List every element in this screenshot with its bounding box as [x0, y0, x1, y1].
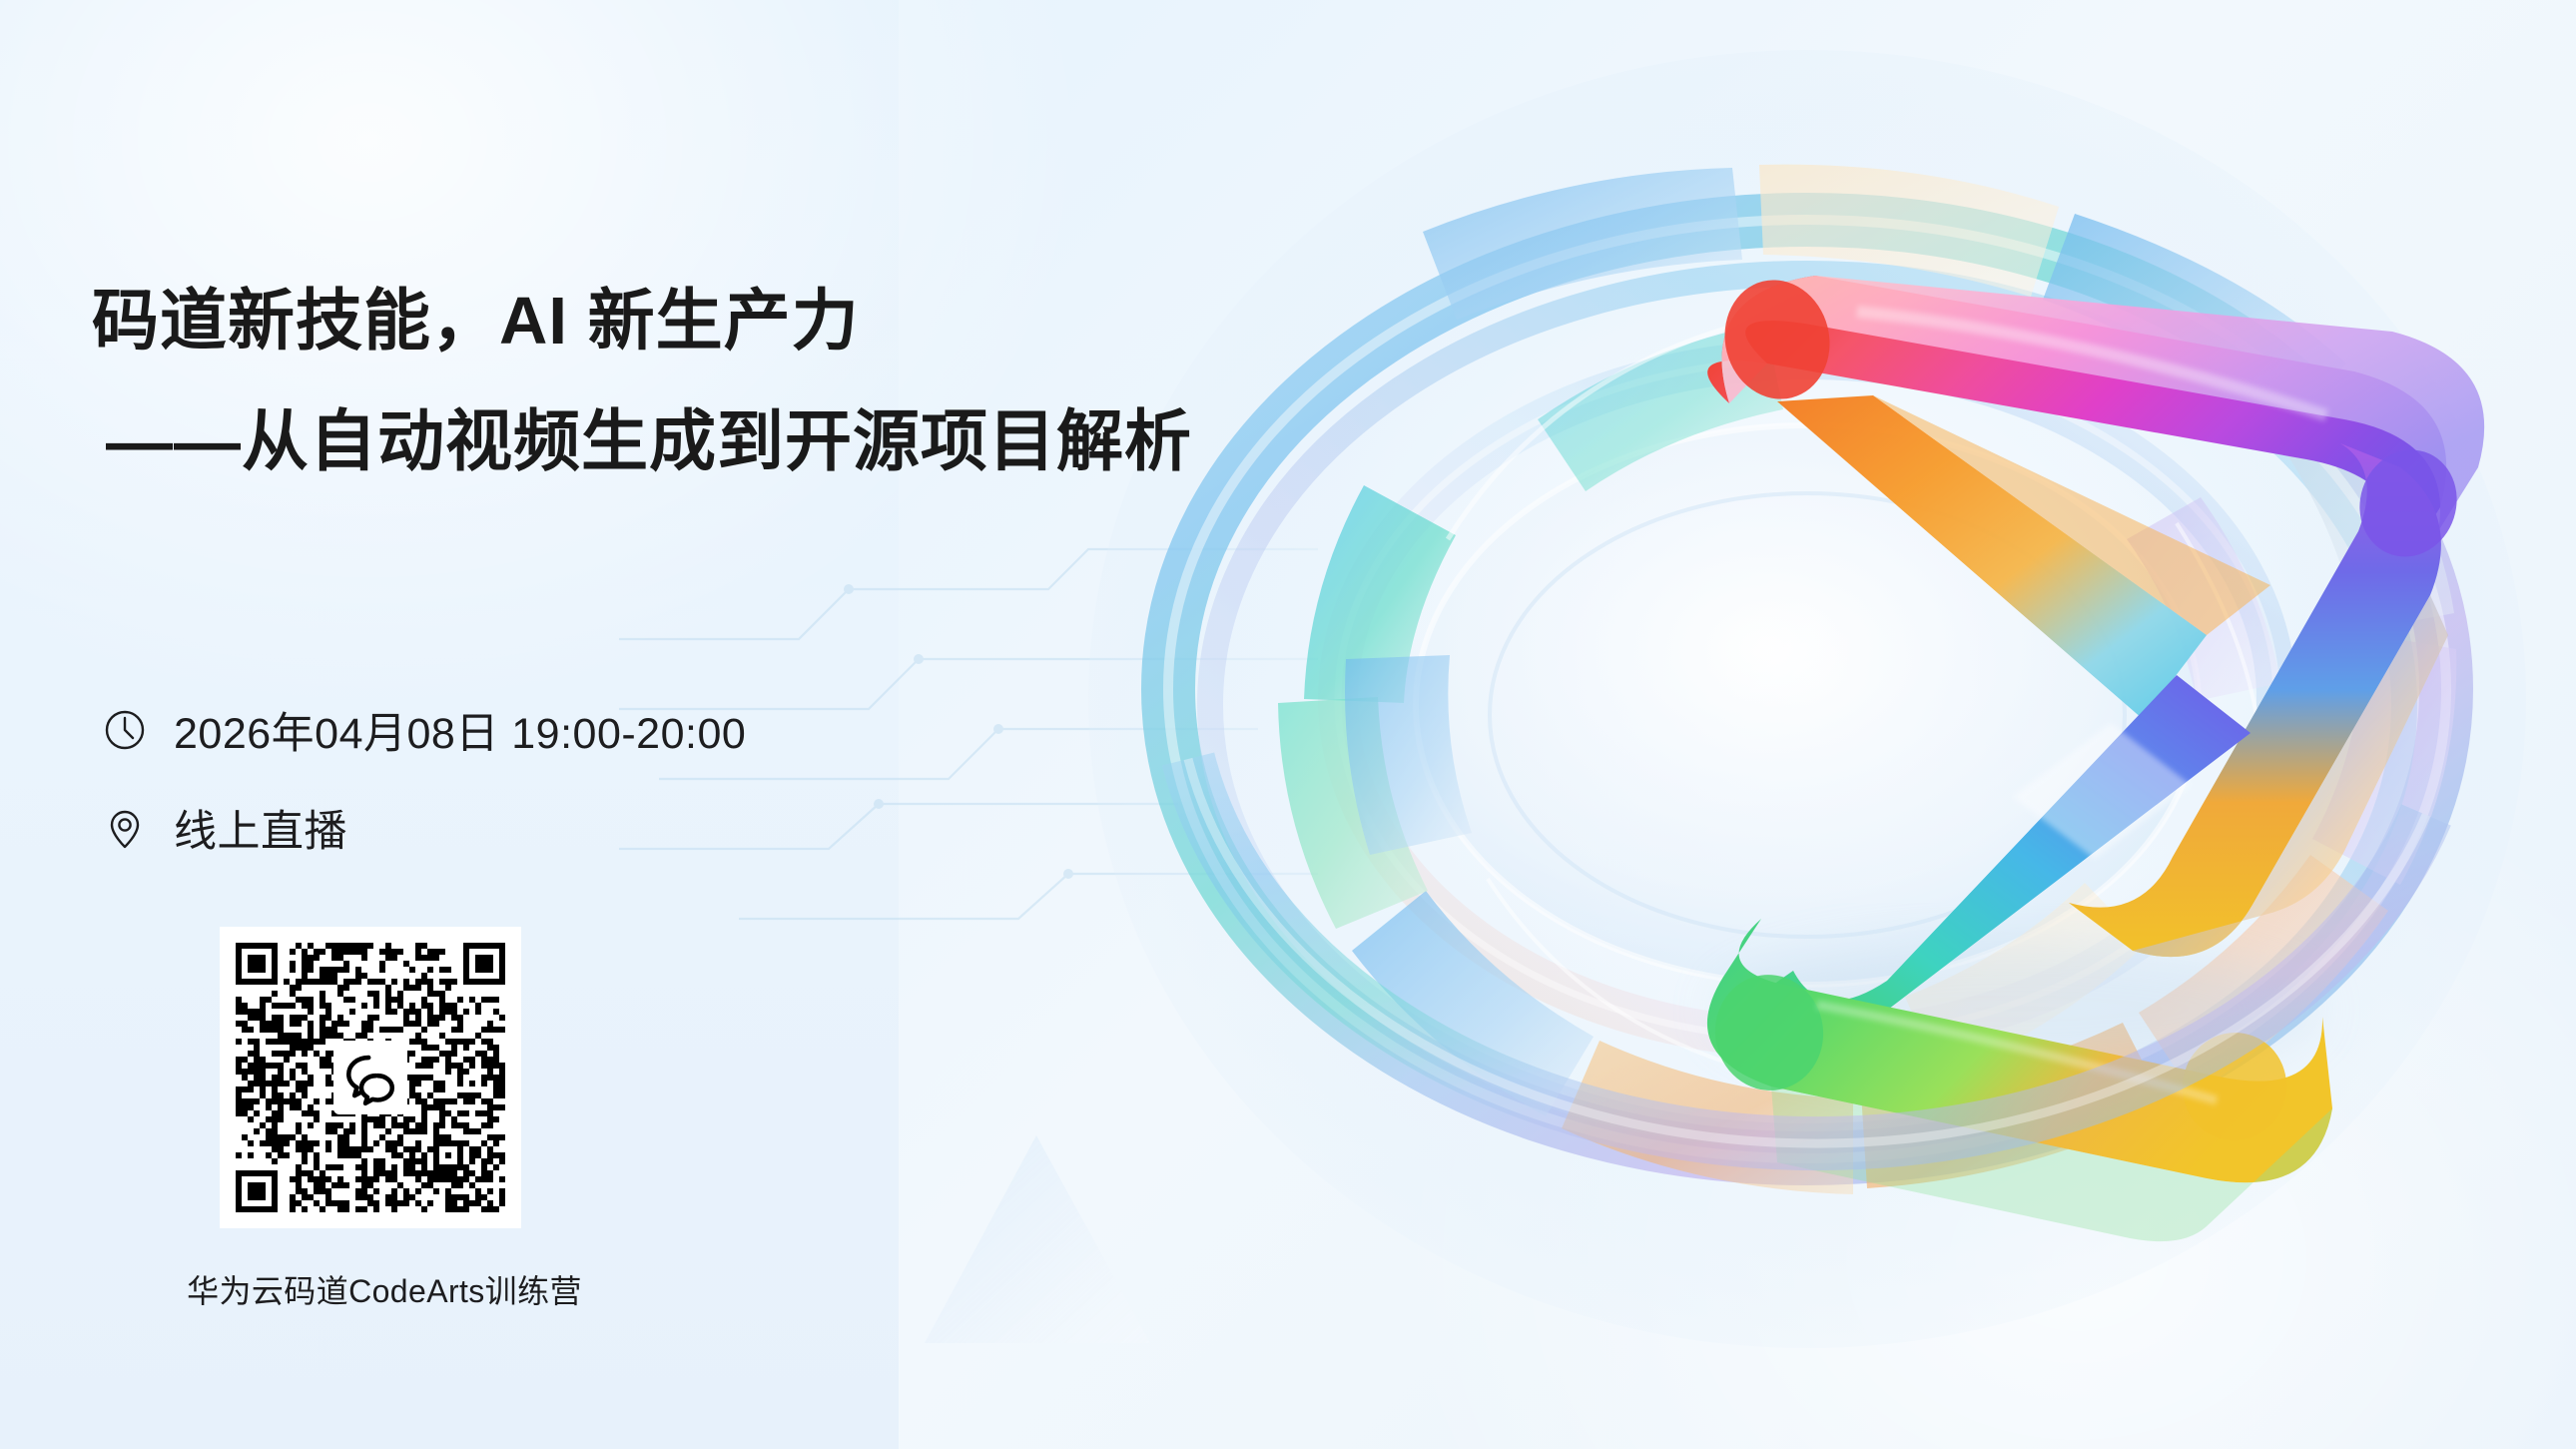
event-meta: 2026年04月08日 19:00-20:00 线上直播 [102, 699, 746, 895]
outer-glass-ring [1168, 220, 2446, 1158]
qr-code[interactable] [220, 927, 521, 1228]
promo-poster: 码道新技能，AI 新生产力 ——从自动视频生成到开源项目解析 2026年04月0… [0, 0, 2576, 1449]
qr-caption: 华为云码道CodeArts训练营 [175, 1266, 594, 1312]
mid-glass-ring [1338, 360, 2276, 1039]
ribbon-z-sculpture [1707, 269, 2484, 1241]
wechat-chat-bubble-icon [333, 1041, 407, 1114]
ring-blades [1278, 165, 2456, 1194]
front-ring-arc [1188, 759, 2426, 1143]
event-location-text: 线上直播 [174, 797, 347, 859]
hero-artwork [1018, 0, 2576, 1449]
location-pin-icon [102, 805, 148, 851]
event-datetime-row: 2026年04月08日 19:00-20:00 [102, 699, 746, 761]
content-column: 码道新技能，AI 新生产力 ——从自动视频生成到开源项目解析 2026年04月0… [92, 0, 1240, 1449]
event-datetime-text: 2026年04月08日 19:00-20:00 [174, 699, 746, 761]
background-glow-bottom-right [1378, 710, 2576, 1449]
headline-block: 码道新技能，AI 新生产力 ——从自动视频生成到开源项目解析 [92, 288, 1210, 475]
headline-line-1: 码道新技能，AI 新生产力 [92, 288, 1210, 355]
qr-block: 华为云码道CodeArts训练营 [220, 927, 539, 1312]
clock-icon [102, 707, 148, 753]
event-location-row: 线上直播 [102, 797, 746, 859]
headline-line-2: ——从自动视频生成到开源项目解析 [106, 408, 1210, 475]
inner-glass-plate [1416, 425, 2199, 985]
